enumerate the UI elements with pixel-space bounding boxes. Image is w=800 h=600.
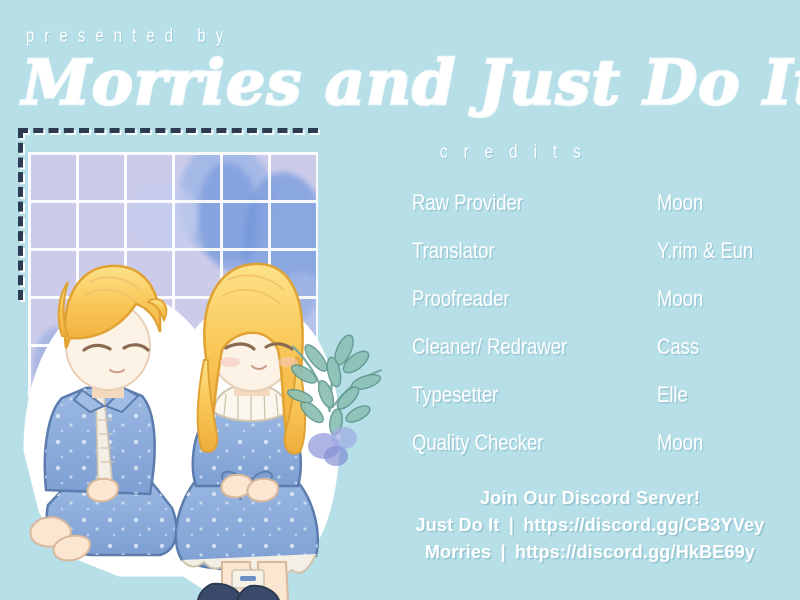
credit-role: Raw Provider — [412, 190, 618, 216]
character-girl — [176, 264, 318, 600]
credit-role: Cleaner/ Redrawer — [412, 334, 618, 360]
credit-name: Moon — [657, 190, 754, 216]
presented-by-label: presented by — [26, 26, 233, 48]
page-title: Morries and Just Do It — [22, 50, 782, 118]
credit-name: Cass — [657, 334, 754, 360]
page-title-text: Morries and Just Do It — [20, 46, 800, 119]
credit-role: Quality Checker — [412, 430, 618, 456]
credit-role: Proofreader — [412, 286, 618, 312]
discord-link-row: Just Do It | https://discord.gg/CB3YVey — [390, 515, 790, 536]
discord-section: Join Our Discord Server! Just Do It | ht… — [390, 488, 790, 569]
discord-group-name: Just Do It — [416, 515, 500, 535]
credit-row: Cleaner/ Redrawer Cass — [412, 334, 772, 382]
credit-row: Typesetter Elle — [412, 382, 772, 430]
discord-invite-url[interactable]: https://discord.gg/HkBE69y — [515, 542, 755, 562]
discord-separator: | — [505, 515, 518, 535]
credit-row: Translator Y.rim & Eun — [412, 238, 772, 286]
credits-table: Raw Provider Moon Translator Y.rim & Eun… — [412, 190, 772, 478]
credits-page: presented by Morries and Just Do It — [0, 0, 800, 600]
discord-group-name: Morries — [425, 542, 491, 562]
credit-row: Raw Provider Moon — [412, 190, 772, 238]
credit-name: Moon — [657, 430, 754, 456]
discord-title: Join Our Discord Server! — [390, 488, 790, 509]
discord-invite-url[interactable]: https://discord.gg/CB3YVey — [523, 515, 764, 535]
discord-link-row: Morries | https://discord.gg/HkBE69y — [390, 542, 790, 563]
credit-name: Elle — [657, 382, 754, 408]
credit-name: Moon — [657, 286, 754, 312]
credit-role: Typesetter — [412, 382, 618, 408]
illustration-characters — [0, 150, 400, 600]
credit-name: Y.rim & Eun — [657, 238, 754, 264]
credits-heading: credits — [440, 142, 597, 164]
credit-row: Quality Checker Moon — [412, 430, 772, 478]
credit-row: Proofreader Moon — [412, 286, 772, 334]
discord-separator: | — [496, 542, 509, 562]
credit-role: Translator — [412, 238, 618, 264]
